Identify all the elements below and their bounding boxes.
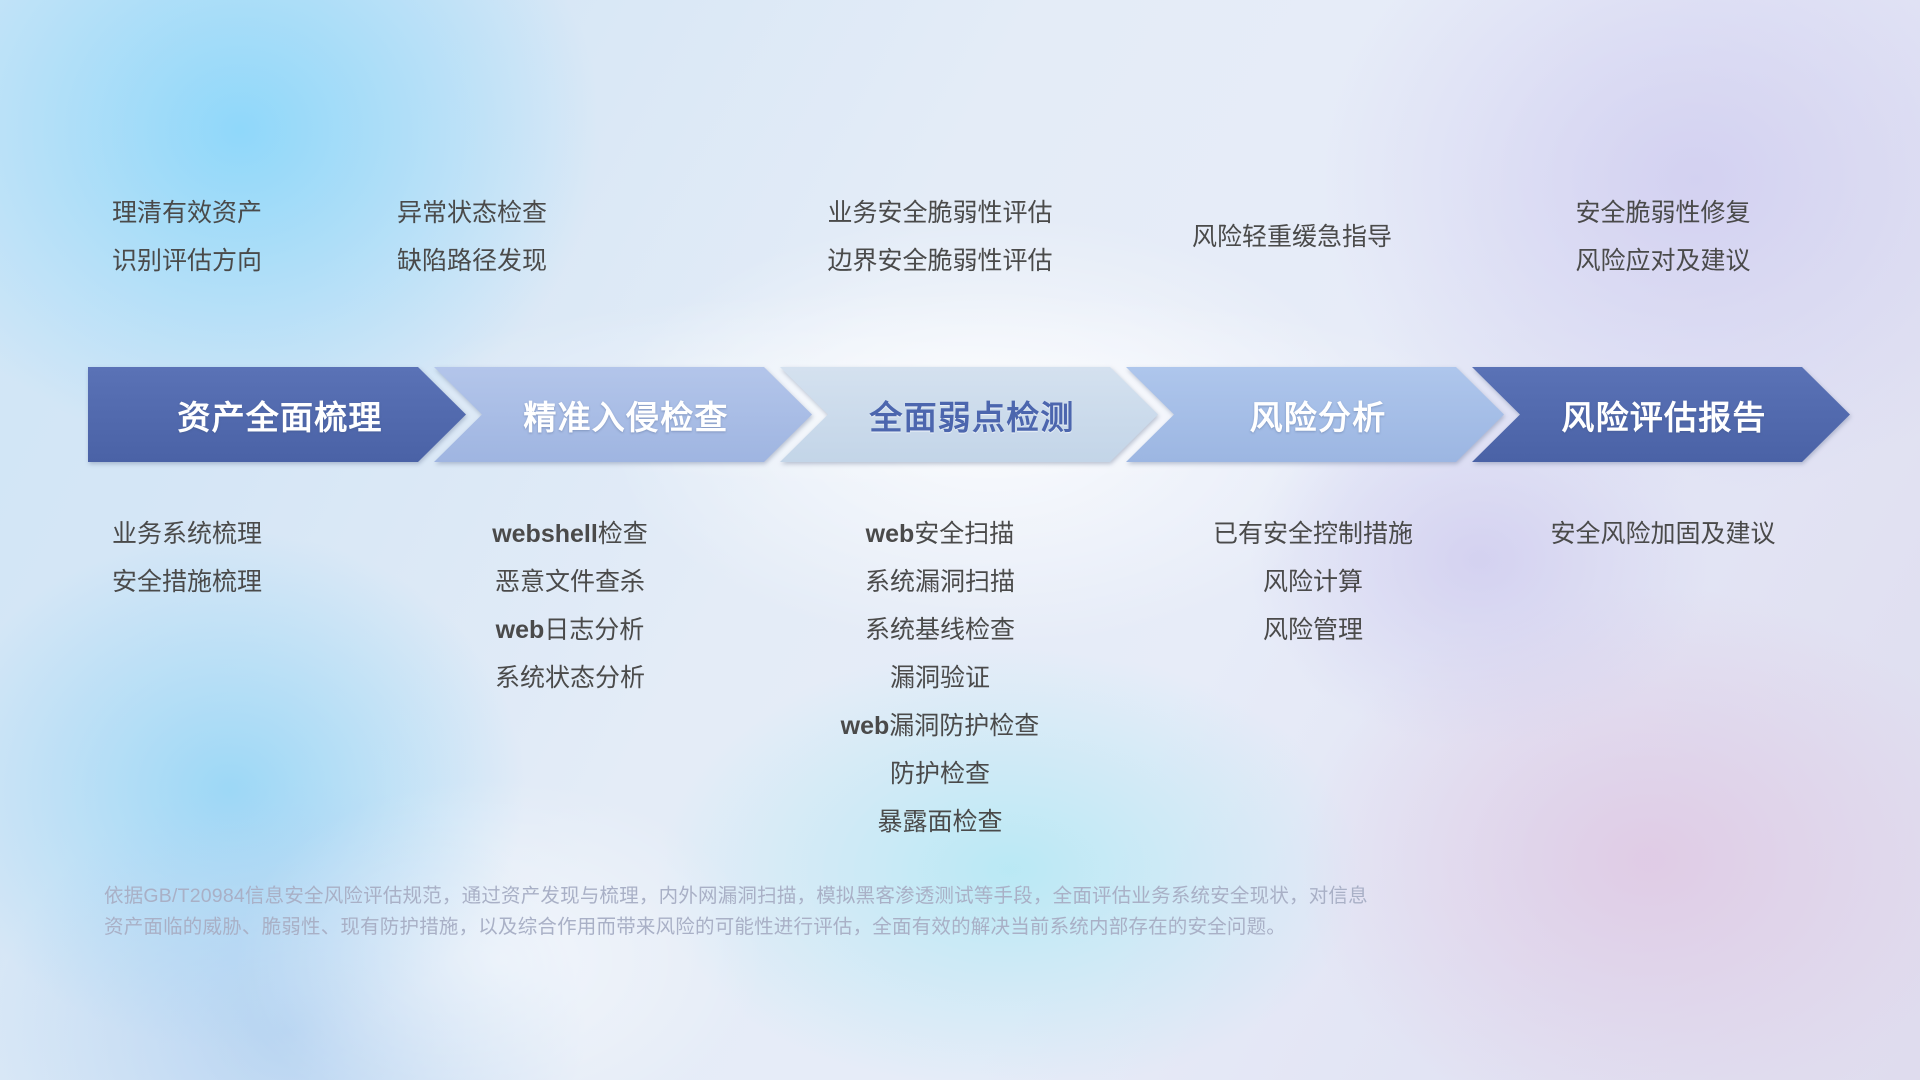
- stage-bottom-label: 恶意文件查杀: [492, 558, 648, 606]
- stage-bottom-labels-1: 业务系统梳理 安全措施梳理: [112, 510, 262, 606]
- stage-top-label: 风险轻重缓急指导: [1192, 213, 1392, 261]
- process-diagram: 理清有效资产 识别评估方向 异常状态检查 缺陷路径发现 业务安全脆弱性评估 边界…: [0, 0, 1920, 1080]
- stage-bottom-label: web日志分析: [492, 606, 648, 654]
- stage-top-labels-3: 业务安全脆弱性评估 边界安全脆弱性评估: [827, 189, 1052, 285]
- stage-chevron-2[interactable]: 精准入侵检查: [434, 367, 812, 462]
- stage-bottom-labels-2: webshell检查 恶意文件查杀 web日志分析 系统状态分析: [492, 510, 648, 702]
- stage-bottom-labels-5: 安全风险加固及建议: [1550, 510, 1775, 558]
- stage-chevron-band: 资产全面梳理 精准入侵检查: [88, 367, 1848, 462]
- stage-bottom-labels-4: 已有安全控制措施 风险计算 风险管理: [1213, 510, 1413, 654]
- stage-chevron-label: 精准入侵检查: [434, 391, 812, 439]
- stage-top-labels-2: 异常状态检查 缺陷路径发现: [397, 189, 547, 285]
- stage-bottom-label: 风险管理: [1213, 606, 1413, 654]
- stage-chevron-label: 资产全面梳理: [88, 391, 466, 439]
- stage-bottom-label: 安全措施梳理: [112, 558, 262, 606]
- stage-top-label: 异常状态检查: [397, 189, 547, 237]
- stage-bottom-label: 风险计算: [1213, 558, 1413, 606]
- stage-bottom-label: 防护检查: [841, 750, 1040, 798]
- footnote-line-1: 依据GB/T20984信息安全风险评估规范，通过资产发现与梳理，内外网漏洞扫描，…: [104, 881, 1624, 912]
- stage-bottom-label: 系统状态分析: [492, 654, 648, 702]
- stage-top-label: 缺陷路径发现: [397, 237, 547, 285]
- stage-bottom-label: 漏洞验证: [841, 654, 1040, 702]
- stage-top-label: 边界安全脆弱性评估: [827, 237, 1052, 285]
- footnote: 依据GB/T20984信息安全风险评估规范，通过资产发现与梳理，内外网漏洞扫描，…: [104, 881, 1624, 943]
- stage-chevron-label: 风险分析: [1126, 391, 1504, 439]
- stage-bottom-label: 安全风险加固及建议: [1550, 510, 1775, 558]
- stage-bottom-label: web漏洞防护检查: [841, 702, 1040, 750]
- stage-bottom-label: webshell检查: [492, 510, 648, 558]
- stage-bottom-label: web安全扫描: [841, 510, 1040, 558]
- stage-bottom-labels-3: web安全扫描 系统漏洞扫描 系统基线检查 漏洞验证 web漏洞防护检查 防护检…: [841, 510, 1040, 846]
- stage-bottom-label: 暴露面检查: [841, 798, 1040, 846]
- stage-bottom-label: 系统漏洞扫描: [841, 558, 1040, 606]
- stage-bottom-label: 已有安全控制措施: [1213, 510, 1413, 558]
- stage-chevron-3[interactable]: 全面弱点检测: [780, 367, 1158, 462]
- stage-chevron-label: 全面弱点检测: [780, 391, 1158, 439]
- stage-top-label: 理清有效资产: [112, 189, 262, 237]
- stage-bottom-label: 系统基线检查: [841, 606, 1040, 654]
- stage-top-label: 业务安全脆弱性评估: [827, 189, 1052, 237]
- stage-chevron-4[interactable]: 风险分析: [1126, 367, 1504, 462]
- stage-bottom-label: 业务系统梳理: [112, 510, 262, 558]
- stage-chevron-label: 风险评估报告: [1472, 391, 1850, 439]
- stage-top-labels-1: 理清有效资产 识别评估方向: [112, 189, 262, 285]
- stage-chevron-1[interactable]: 资产全面梳理: [88, 367, 466, 462]
- stage-top-labels-5: 安全脆弱性修复 风险应对及建议: [1575, 189, 1750, 285]
- stage-top-label: 识别评估方向: [112, 237, 262, 285]
- footnote-line-2: 资产面临的威胁、脆弱性、现有防护措施，以及综合作用而带来风险的可能性进行评估，全…: [104, 912, 1624, 943]
- stage-top-label: 安全脆弱性修复: [1575, 189, 1750, 237]
- stage-top-label: 风险应对及建议: [1575, 237, 1750, 285]
- stage-top-labels-4: 风险轻重缓急指导: [1192, 213, 1392, 261]
- stage-chevron-5[interactable]: 风险评估报告: [1472, 367, 1850, 462]
